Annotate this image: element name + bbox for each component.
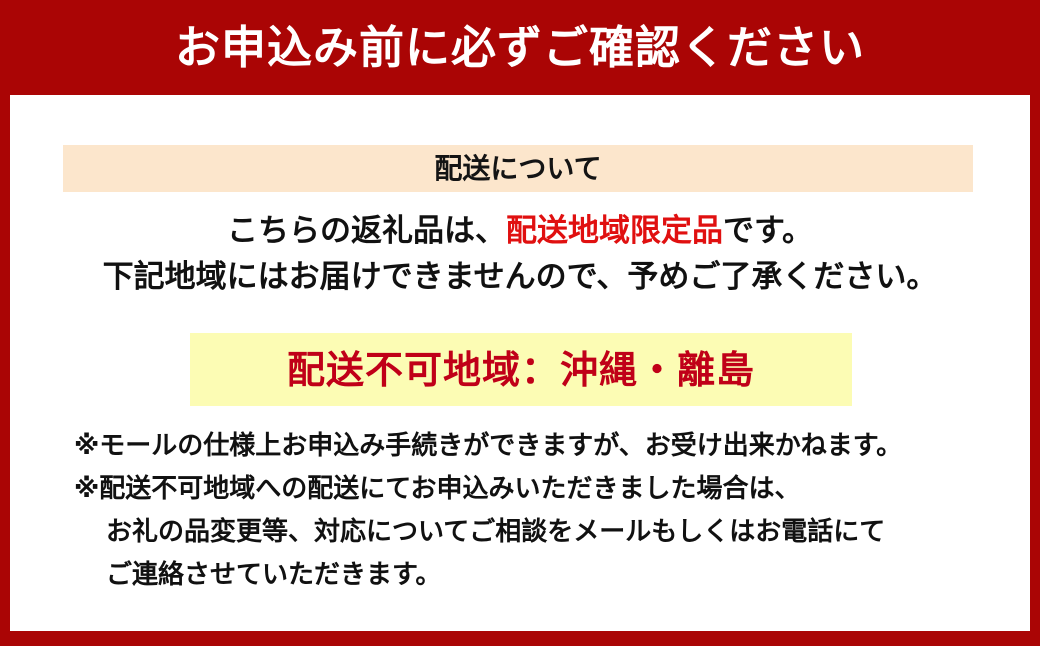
intro-paragraph: こちらの返礼品は、配送地域限定品です。 下記地域にはお届けできませんので、予めご… bbox=[0, 208, 1040, 300]
section-heading-label: 配送について bbox=[434, 155, 601, 183]
restricted-area-label: 配送不可地域：沖縄・離島 bbox=[287, 351, 755, 389]
intro-line-1: こちらの返礼品は、配送地域限定品です。 bbox=[0, 208, 1040, 254]
section-heading-band: 配送について bbox=[63, 145, 973, 192]
restricted-area-band: 配送不可地域：沖縄・離島 bbox=[190, 333, 852, 406]
shipping-notice-card: お申込み前に必ずご確認ください 配送について こちらの返礼品は、配送地域限定品で… bbox=[0, 0, 1040, 646]
note-line-3: お礼の品変更等、対応についてご相談をメールもしくはお電話にて bbox=[74, 511, 994, 554]
intro-line-1-suffix: です。 bbox=[723, 213, 813, 249]
intro-line-2: 下記地域にはお届けできませんので、予めご了承ください。 bbox=[0, 254, 1040, 300]
intro-line-1-highlight: 配送地域限定品 bbox=[506, 213, 723, 249]
note-line-4: ご連絡させていただきます。 bbox=[74, 554, 994, 597]
notice-header-title: お申込み前に必ずご確認ください bbox=[175, 25, 865, 70]
note-line-2: ※配送不可地域への配送にてお申込みいただきました場合は、 bbox=[74, 468, 994, 511]
note-line-1: ※モールの仕様上お申込み手続きができますが、お受け出来かねます。 bbox=[74, 425, 994, 468]
notice-body: 配送について こちらの返礼品は、配送地域限定品です。 下記地域にはお届けできませ… bbox=[0, 95, 1040, 631]
notice-header-banner: お申込み前に必ずご確認ください bbox=[0, 0, 1040, 95]
intro-line-1-prefix: こちらの返礼品は、 bbox=[227, 213, 506, 249]
notes-list: ※モールの仕様上お申込み手続きができますが、お受け出来かねます。 ※配送不可地域… bbox=[74, 425, 994, 597]
